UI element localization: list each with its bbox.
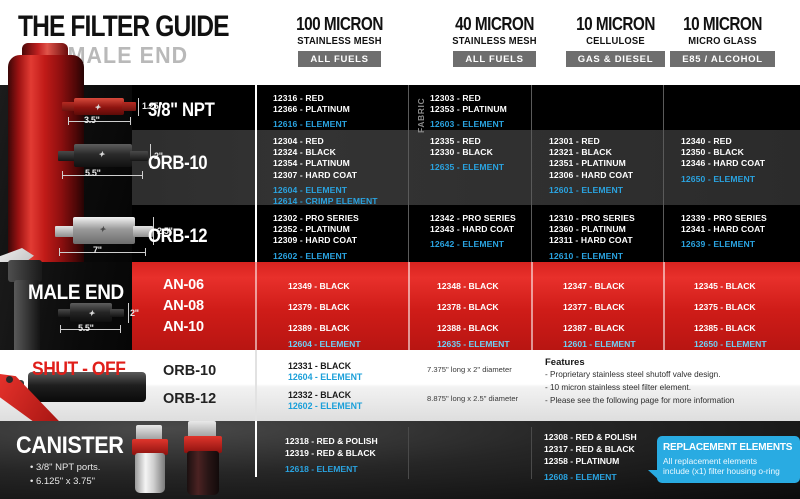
column-divider-3 (663, 85, 664, 262)
an-fitting-art (4, 258, 48, 354)
features-heading: Features (545, 357, 585, 368)
row-label-shutoff-orb-10: ORB-10 (163, 363, 216, 379)
canister-bullet-2: • 6.125" x 3.75" (30, 476, 95, 487)
features-line-2: - 10 micron stainless steel filter eleme… (545, 383, 691, 392)
male-divider-3 (663, 262, 665, 350)
dim-length-npt: 3.5" (84, 115, 100, 125)
canister-art-black (176, 421, 230, 497)
filter-guide-sheet: THE FILTER GUIDE FEMALE END 100 MICRON S… (0, 0, 800, 499)
row-label-an-10: AN-10 (163, 319, 204, 335)
cell-orb12-10micron-cellulose: 12310 - PRO SERIES 12360 - PLATINUM 1231… (549, 213, 635, 262)
cell-orb10-100micron: 12304 - RED 12324 - BLACK 12354 - PLATIN… (273, 136, 378, 207)
male-divider-1 (408, 262, 410, 350)
canister-divider-2 (531, 427, 532, 479)
female-end-section: ✦ 3.5" 1.25" 3/8" NPT ✦ 5.5" 2" ORB-10 (0, 85, 800, 262)
row-label-an-08: AN-08 (163, 298, 204, 314)
cell-orb12-40micron: 12342 - PRO SERIES 12343 - HARD COAT 126… (430, 213, 516, 251)
cell-shutoff-orb12-part: 12332 - BLACK (288, 390, 351, 400)
cell-male-element-10micron-cellulose: 12601 - ELEMENT (563, 339, 636, 349)
header-band: THE FILTER GUIDE FEMALE END 100 MICRON S… (0, 0, 800, 85)
cell-an08-40micron: 12378 - BLACK (437, 302, 499, 312)
replacement-callout-line-1: All replacement elements (663, 456, 757, 467)
cell-an10-10micron-cellulose: 12387 - BLACK (563, 323, 625, 333)
column-header-100-micron: 100 MICRON STAINLESS MESH ALL FUELS (262, 14, 417, 67)
cell-canister-10micron-cellulose: 12308 - RED & POLISH 12317 - RED & BLACK… (544, 431, 637, 483)
cell-an06-10micron-microglass: 12345 - BLACK (694, 281, 756, 291)
cell-an08-100micron: 12379 - BLACK (288, 302, 350, 312)
column-fuel-badge: ALL FUELS (298, 51, 380, 67)
column-micron-label: 100 MICRON (274, 14, 406, 35)
cell-male-element-100micron: 12604 - ELEMENT (288, 339, 361, 349)
cell-an10-100micron: 12389 - BLACK (288, 323, 350, 333)
canister-bullet-1: • 3/8" NPT ports. (30, 462, 100, 473)
row-label-orb-12: ORB-12 (148, 226, 207, 248)
shut-off-title: SHUT - OFF (32, 359, 125, 381)
cell-orb10-10micron-microglass: 12340 - RED 12350 - BLACK 12346 - HARD C… (681, 136, 765, 185)
column-divider-main (255, 85, 257, 262)
dim-length-orb-10: 5.5" (85, 168, 101, 178)
row-label-npt: 3/8" NPT (148, 100, 214, 122)
canister-title: CANISTER (16, 432, 124, 460)
cell-orb12-10micron-microglass: 12339 - PRO SERIES 12341 - HARD COAT 126… (681, 213, 767, 251)
column-fuel-badge: ALL FUELS (453, 51, 535, 67)
column-fuel-badge: E85 / ALCOHOL (670, 51, 775, 67)
cell-orb12-100micron: 12302 - PRO SERIES 12352 - PLATINUM 1230… (273, 213, 359, 262)
features-line-3: - Please see the following page for more… (545, 396, 734, 405)
cell-an06-100micron: 12349 - BLACK (288, 281, 350, 291)
cell-an10-40micron: 12388 - BLACK (437, 323, 499, 333)
features-line-1: - Proprietary stainless steel shutoff va… (545, 370, 721, 379)
cell-shutoff-orb12-dim: 8.875" long x 2.5" diameter (427, 394, 518, 403)
male-end-product-art: ✦ 5.5" 2" (0, 262, 132, 350)
dim-length-orb-12: 7" (93, 245, 102, 255)
replacement-elements-callout: REPLACEMENT ELEMENTS All replacement ele… (657, 436, 800, 483)
cell-shutoff-orb10-element: 12604 - ELEMENT (288, 372, 362, 382)
canister-divider-main (255, 421, 257, 477)
column-material-label: STAINLESS MESH (267, 36, 413, 47)
dim-diameter-male: 2" (130, 308, 139, 318)
cell-male-element-40micron: 12635 - ELEMENT (437, 339, 510, 349)
page-title: THE FILTER GUIDE (18, 10, 229, 44)
cell-an06-10micron-cellulose: 12347 - BLACK (563, 281, 625, 291)
cell-npt-40micron: 12303 - RED 12353 - PLATINUM 12603 - ELE… (430, 93, 507, 131)
replacement-callout-heading: REPLACEMENT ELEMENTS (663, 441, 792, 453)
row-label-shutoff-orb-12: ORB-12 (163, 391, 216, 407)
male-end-title: MALE END (28, 281, 124, 305)
fabric-vertical-label: FABRIC (416, 93, 426, 133)
column-micron-label: 10 MICRON (657, 14, 789, 35)
replacement-callout-line-2: include (x1) filter housing o-ring (663, 466, 780, 477)
cell-npt-100micron: 12316 - RED 12366 - PLATINUM 12616 - ELE… (273, 93, 350, 131)
male-divider-main (255, 262, 257, 350)
cell-an06-40micron: 12348 - BLACK (437, 281, 499, 291)
row-label-an-06: AN-06 (163, 277, 204, 293)
cell-shutoff-orb10-dim: 7.375" long x 2" diameter (427, 365, 512, 374)
cell-shutoff-orb10-part: 12331 - BLACK (288, 361, 351, 371)
cell-an08-10micron-cellulose: 12377 - BLACK (563, 302, 625, 312)
canister-art-polish (126, 425, 176, 495)
column-divider-2 (531, 85, 532, 262)
row-label-orb-10: ORB-10 (148, 153, 207, 175)
cell-an10-10micron-microglass: 12385 - BLACK (694, 323, 756, 333)
canister-divider-1 (408, 427, 409, 479)
cell-orb10-40micron: 12335 - RED 12330 - BLACK 12635 - ELEMEN… (430, 136, 504, 174)
cell-male-element-10micron-microglass: 12650 - ELEMENT (694, 339, 767, 349)
dim-length-male: 5.5" (78, 323, 94, 333)
column-material-label: MICRO GLASS (650, 36, 796, 47)
male-divider-2 (531, 262, 533, 350)
column-divider-1 (408, 85, 409, 262)
cell-orb10-10micron-cellulose: 12301 - RED 12321 - BLACK 12351 - PLATIN… (549, 136, 633, 196)
cell-an08-10micron-microglass: 12375 - BLACK (694, 302, 756, 312)
cell-shutoff-orb12-element: 12602 - ELEMENT (288, 401, 362, 411)
shutoff-divider-main (255, 350, 257, 421)
male-end-section: ✦ 5.5" 2" MALE END AN-06 AN-08 AN-10 123… (0, 262, 800, 350)
column-header-10-micron-micro-glass: 10 MICRON MICRO GLASS E85 / ALCOHOL (645, 14, 800, 67)
cell-canister-100micron: 12318 - RED & POLISH 12319 - RED & BLACK… (285, 435, 378, 475)
